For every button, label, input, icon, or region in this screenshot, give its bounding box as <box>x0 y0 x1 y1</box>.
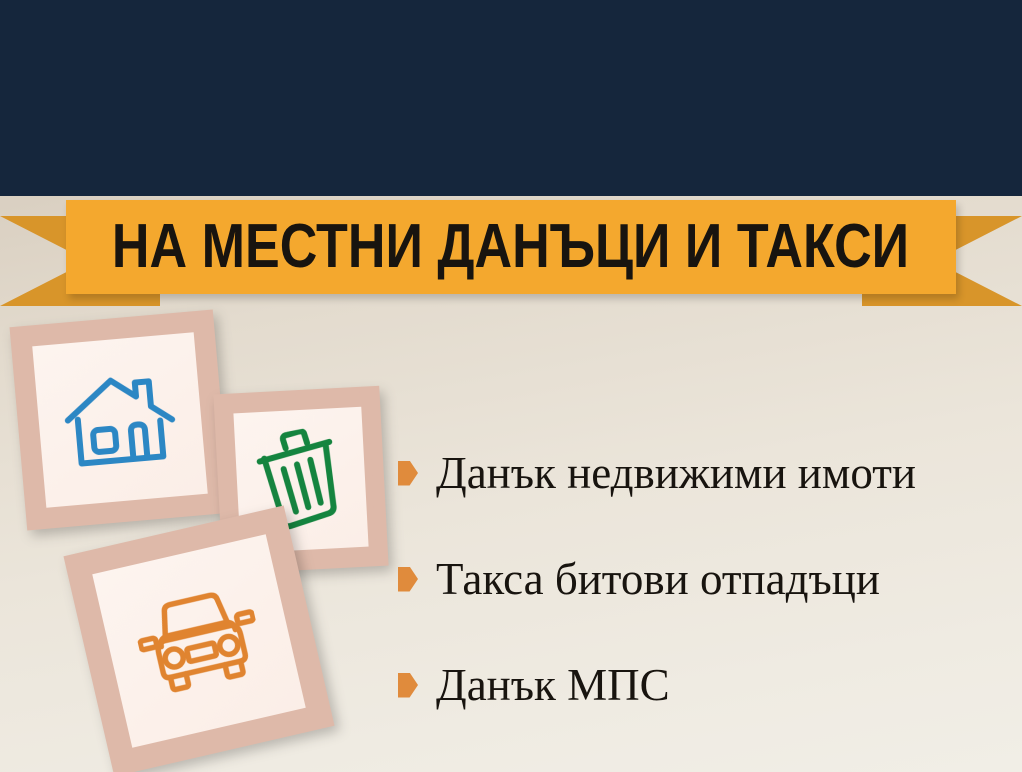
list-item: Данък недвижими имоти <box>398 420 1008 526</box>
list-item-label: Такса битови отпадъци <box>436 553 880 605</box>
poster-root: община ЕЛИН ПЕЛИН ПРОВЕРКА И ПЛАЩАНЕ НА … <box>0 0 1022 772</box>
ribbon-label: НА МЕСТНИ ДАНЪЦИ И ТАКСИ <box>112 216 909 278</box>
house-icon <box>9 309 230 530</box>
tax-type-list: Данък недвижими имоти Такса битови отпад… <box>398 420 1008 738</box>
stamp-property-tax <box>9 309 230 530</box>
list-item-label: Данък недвижими имоти <box>436 447 916 499</box>
subtitle-ribbon: НА МЕСТНИ ДАНЪЦИ И ТАКСИ <box>0 196 1022 308</box>
list-item: Такса битови отпадъци <box>398 526 1008 632</box>
list-item-label: Данък МПС <box>436 659 670 711</box>
ribbon-banner: НА МЕСТНИ ДАНЪЦИ И ТАКСИ <box>66 200 956 294</box>
bullet-arrow-icon <box>398 673 418 698</box>
stamp-collage <box>0 300 420 772</box>
list-item: Данък МПС <box>398 632 1008 738</box>
bullet-arrow-icon <box>398 461 418 486</box>
header-band <box>0 0 1022 196</box>
bullet-arrow-icon <box>398 567 418 592</box>
